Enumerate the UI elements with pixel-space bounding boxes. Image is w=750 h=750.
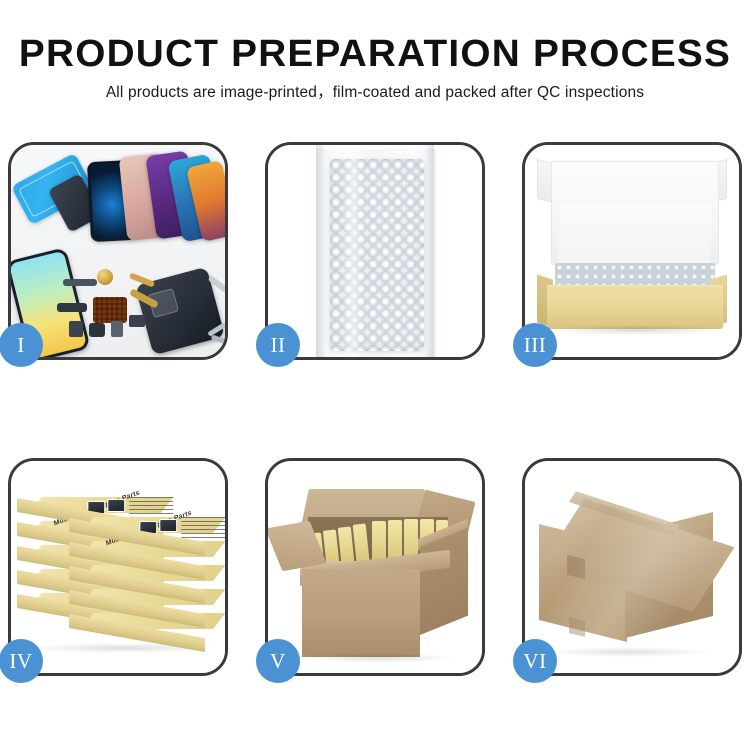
step-panel-4: Mobile Phone Spare Parts [8,458,228,676]
step-badge-2: II [256,323,300,367]
sealed-carton-drop-shadow [549,647,709,657]
step-badge-4: IV [0,639,43,683]
step-panel-6-image [525,461,739,673]
small-component-2-icon [89,323,105,337]
connector-grid-part-icon [93,297,127,323]
film-seam-right-graphic [424,145,434,357]
step-panel-4-image: Mobile Phone Spare Parts [11,461,225,673]
kraft-box-front-1: Mobile Phone Spare Parts [69,517,219,543]
box-spec-lines [181,517,225,539]
flex-cable-part-1-icon [63,279,97,286]
step-panel-1-image [11,145,225,357]
box-inner-liner-graphic [559,205,711,267]
step-panel-5-image [268,461,482,673]
step-panel-3: III [522,142,742,360]
carton-tape-tab-upper [567,555,585,579]
box-spec-lines [129,497,173,519]
step-panel-1: I [8,142,228,360]
step-panel-2: II [265,142,485,360]
carton-drop-shadow [304,653,454,663]
step-panel-5: V [265,458,485,676]
step-badge-3: III [513,323,557,367]
box-drop-shadow [551,325,721,335]
flex-cable-part-4-icon [57,303,87,312]
box-phone-image-2 [159,519,177,532]
small-component-3-icon [111,321,123,337]
step-panel-2-image [268,145,482,357]
box-phone-image-2 [107,499,125,512]
step-panel-6: VI [522,458,742,676]
step-badge-6: VI [513,639,557,683]
box-stack-front: Mobile Phone Spare Parts [69,517,225,657]
step-panel-3-image [525,145,739,357]
page-subtitle: All products are image-printed，film-coat… [0,76,750,103]
page-title: PRODUCT PREPARATION PROCESS [0,0,750,76]
step-badge-1: I [0,323,43,367]
film-highlight-graphic [342,145,364,357]
process-step-grid: I II III [8,142,742,676]
film-seam-left-graphic [316,145,326,357]
small-component-1-icon [69,321,83,337]
carton-front-face-graphic [302,569,420,657]
kraft-box-front-graphic [547,289,723,329]
header: PRODUCT PREPARATION PROCESS All products… [0,0,750,103]
small-component-4-icon [129,315,145,327]
speaker-coil-part-icon [97,269,113,285]
step-badge-5: V [256,639,300,683]
